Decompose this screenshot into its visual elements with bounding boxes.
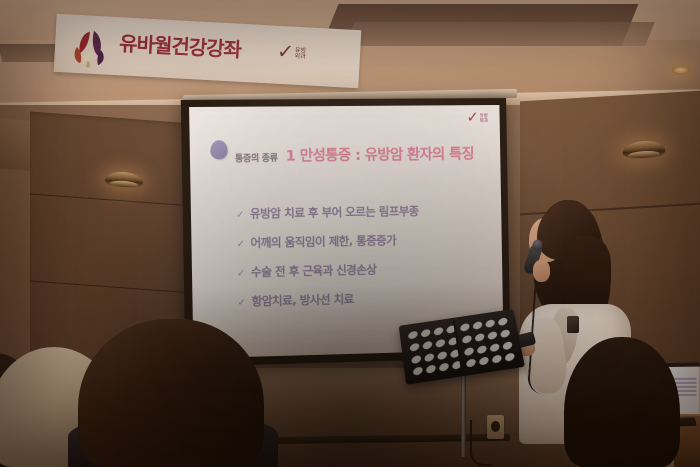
bullet-text: 어깨의 움직임이 제한, 통증증가	[250, 232, 396, 251]
slide-title: 통증의 종류 1 만성통증 : 유방암 환자의 특징	[235, 143, 474, 167]
wall-outlet-icon	[487, 415, 504, 439]
bullet-text: 수술 전 후 근육과 신경손상	[251, 261, 377, 280]
slide-decorative-blob-icon	[210, 140, 228, 159]
banner-title: 유바월건강강좌	[119, 27, 242, 63]
check-bullet-icon: ✓	[237, 268, 245, 279]
slide-logo-subtext: 유방 외과	[480, 111, 488, 125]
flower-logo-icon	[68, 27, 112, 69]
list-item: ✓ 어깨의 움직임이 제한, 통증증가	[236, 231, 486, 252]
check-bullet-icon: ✓	[237, 297, 245, 308]
slide-title-prefix: 통증의 종류	[235, 151, 278, 165]
lecture-room-photo: 유바월건강강좌 ✓ 유방 외과 ✓ 유방 외과	[0, 0, 700, 467]
list-item: ✓ 유방암 치료 후 부어 오르는 림프부종	[236, 202, 486, 222]
presenter-hand-holding-mic	[533, 260, 550, 282]
presenter-id-badge	[567, 316, 579, 333]
slide-title-main: 1 만성통증 : 유방암 환자의 특징	[285, 143, 474, 166]
ceiling-recess-beam-secondary	[345, 22, 655, 46]
check-bullet-icon: ✓	[236, 210, 244, 221]
banner-logo-subtext: 유방 외과	[294, 43, 306, 61]
bullet-text: 항암치료, 방사선 치료	[251, 291, 353, 309]
list-item: ✓ 항암치료, 방사선 치료	[237, 288, 487, 310]
check-mark-icon: ✓	[466, 111, 478, 124]
check-bullet-icon: ✓	[236, 239, 244, 250]
ceiling-downlight-icon	[672, 66, 690, 74]
banner-brand-logo: ✓ 유방 외과	[277, 42, 307, 62]
slide-bullet-list: ✓ 유방암 치료 후 부어 오르는 림프부종 ✓ 어깨의 움직임이 제한, 통증…	[236, 202, 488, 310]
bullet-text: 유방암 치료 후 부어 오르는 림프부종	[250, 203, 419, 222]
slide-brand-logo: ✓ 유방 외과	[466, 111, 488, 125]
check-mark-icon: ✓	[277, 42, 295, 61]
list-item: ✓ 수술 전 후 근육과 신경손상	[237, 259, 487, 280]
